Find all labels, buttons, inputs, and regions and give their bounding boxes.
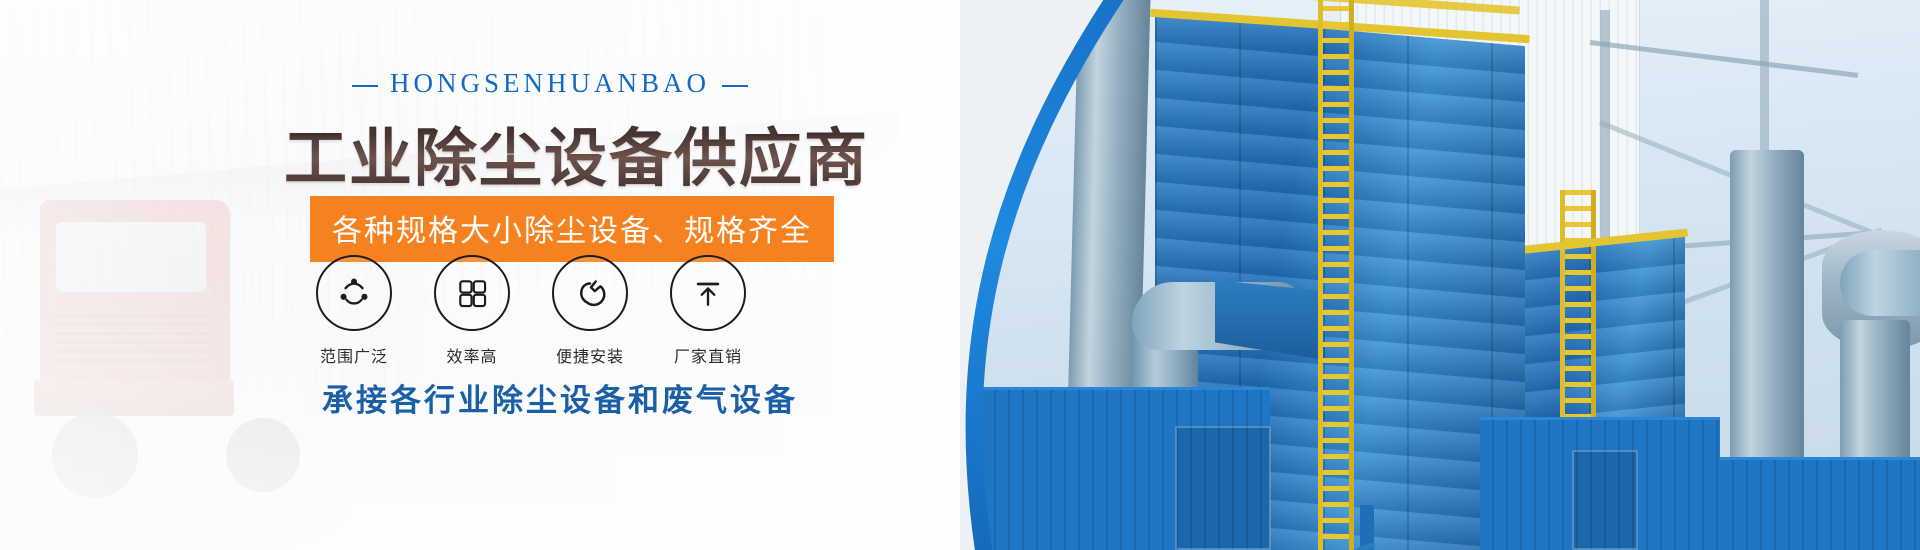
eyebrow-dash-right — [722, 85, 748, 87]
plant-photo — [960, 0, 1920, 550]
page-title: 工业除尘设备供应商 — [284, 108, 869, 199]
up-arrow-icon — [670, 255, 746, 331]
share-network-icon — [316, 255, 392, 331]
access-door — [1572, 450, 1638, 550]
steel-pipe — [1840, 250, 1920, 316]
blue-base-wall — [1720, 457, 1920, 550]
banner-tagline: 承接各行业除尘设备和废气设备 — [322, 375, 798, 420]
access-door — [1175, 426, 1271, 550]
feature-label: 便捷安装 — [552, 343, 628, 367]
banner-content: HONGSENHUANBAO 工业除尘设备供应商 各种规格大小除尘设备、规格齐全… — [0, 0, 960, 550]
hero-banner: HONGSENHUANBAO 工业除尘设备供应商 各种规格大小除尘设备、规格齐全… — [0, 0, 1920, 550]
highlight-badge: 各种规格大小除尘设备、规格齐全 — [310, 196, 834, 262]
brand-eyebrow: HONGSENHUANBAO — [340, 68, 760, 99]
feature-item-range[interactable]: 范围广泛 — [316, 255, 392, 367]
eyebrow-dash-left — [352, 85, 378, 87]
feature-label: 厂家直销 — [670, 343, 746, 367]
feature-list: 范围广泛 效率高 — [316, 255, 736, 367]
feature-item-installation[interactable]: 便捷安装 — [552, 255, 628, 367]
wrench-icon — [552, 255, 628, 331]
feature-label: 范围广泛 — [316, 343, 392, 367]
eyebrow-text: HONGSENHUANBAO — [390, 68, 710, 98]
ladder-cage — [1318, 0, 1354, 550]
grid-four-squares-icon — [434, 255, 510, 331]
feature-item-factory-direct[interactable]: 厂家直销 — [670, 255, 746, 367]
feature-item-efficiency[interactable]: 效率高 — [434, 255, 510, 367]
feature-label: 效率高 — [434, 343, 510, 367]
